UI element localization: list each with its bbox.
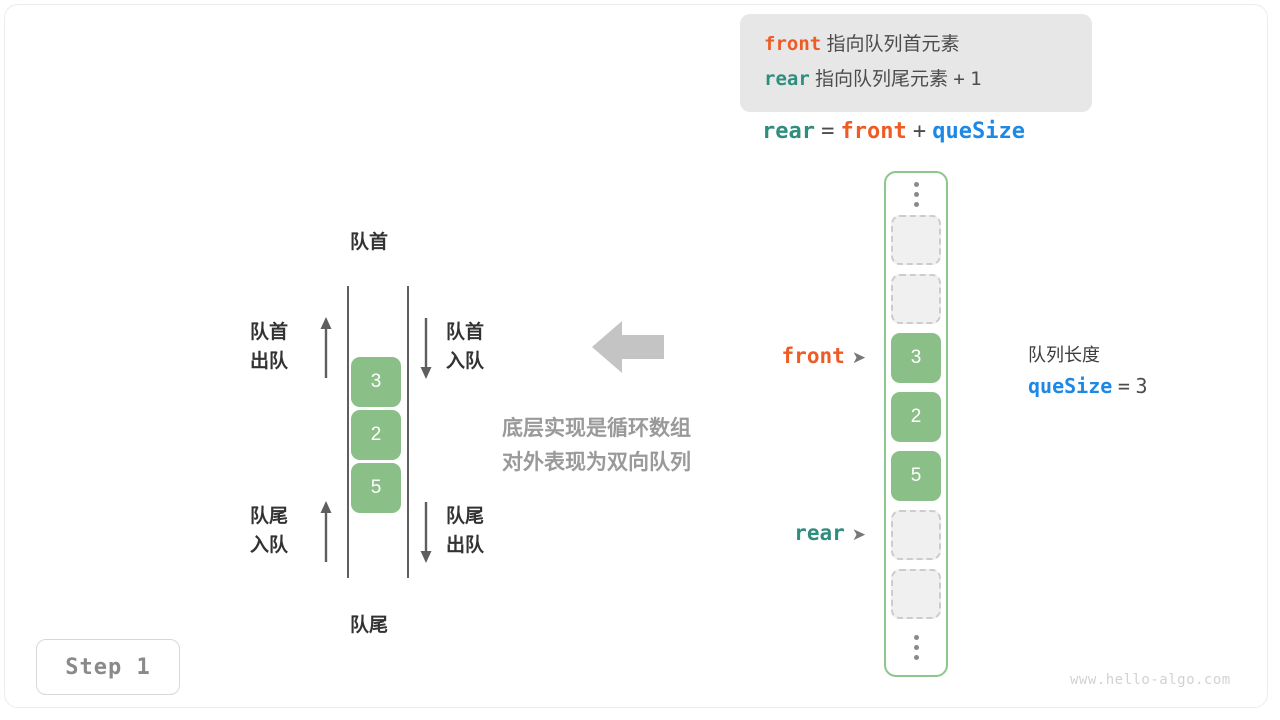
queue-size-variable: queSize: [1028, 374, 1112, 398]
mapping-left-arrow-icon: [592, 318, 664, 376]
ellipsis-dot: [914, 202, 919, 207]
legend-term-front: front: [764, 33, 821, 55]
legend-rear-op: +: [953, 68, 964, 90]
array-cell-6[interactable]: [891, 569, 941, 619]
queue-size-expression: queSize = 3: [1028, 371, 1148, 403]
ellipsis-dot: [914, 635, 919, 640]
queue-size-title: 队列长度: [1028, 340, 1148, 371]
array-cell-value: 5: [911, 465, 922, 487]
array-cell-value: 3: [911, 347, 922, 369]
formula-plus: +: [913, 119, 926, 144]
op-head-push-line2: 入队: [446, 347, 484, 376]
step-badge: Step 1: [36, 639, 180, 695]
pointer-front: front➤: [736, 344, 866, 369]
formula-rear-equals-front-plus-quesize: rear = front + queSize: [762, 118, 1025, 144]
deque-cell-value: 5: [371, 477, 382, 499]
queue-size-equals: =: [1118, 374, 1130, 398]
deque-cell-value: 3: [371, 371, 382, 393]
legend-text-rear: 指向队列尾元素: [815, 69, 948, 90]
op-tail-pop-down-arrow-icon: [418, 500, 434, 564]
pointer-rear-arrow-icon: ➤: [852, 525, 866, 545]
implementation-note: 底层实现是循环数组 对外表现为双向队列: [502, 412, 691, 480]
array-cell-1[interactable]: [891, 274, 941, 324]
op-tail-pop-line1: 队尾: [446, 502, 484, 531]
op-head-push-down-arrow-icon: [418, 316, 434, 380]
diagram-canvas: front 指向队列首元素 rear 指向队列尾元素 + 1 rear = fr…: [0, 0, 1280, 720]
op-tail-push-up-arrow-icon: [318, 500, 334, 564]
array-cell-0[interactable]: [891, 215, 941, 265]
deque-cell-0[interactable]: 3: [351, 357, 401, 407]
pointer-front-label: front: [782, 344, 845, 368]
array-cell-4[interactable]: 5: [891, 451, 941, 501]
op-tail-pop-label: 队尾 出队: [446, 502, 484, 560]
array-bottom-ellipsis: [891, 624, 941, 670]
legend-line-rear: rear 指向队列尾元素 + 1: [764, 62, 1092, 97]
deque-rail-left: [347, 286, 349, 578]
deque-cell-value: 2: [371, 424, 382, 446]
op-tail-push-line1: 队尾: [250, 502, 288, 531]
array-cell-3[interactable]: 2: [891, 392, 941, 442]
implementation-note-line2: 对外表现为双向队列: [502, 446, 691, 480]
ellipsis-dot: [914, 192, 919, 197]
deque-head-label: 队首: [350, 229, 388, 256]
queue-size-value: 3: [1135, 374, 1147, 398]
ellipsis-dot: [914, 645, 919, 650]
pointer-rear-label: rear: [794, 521, 845, 545]
op-head-push-line1: 队首: [446, 318, 484, 347]
legend-line-front: front 指向队列首元素: [764, 27, 1092, 62]
implementation-note-line1: 底层实现是循环数组: [502, 412, 691, 446]
array-cell-5[interactable]: [891, 510, 941, 560]
op-head-pop-up-arrow-icon: [318, 316, 334, 380]
op-tail-pop-line2: 出队: [446, 531, 484, 560]
site-watermark: www.hello-algo.com: [1070, 672, 1231, 688]
formula-rhs-quesize: queSize: [932, 119, 1025, 144]
deque-cell-2[interactable]: 5: [351, 463, 401, 513]
formula-equals: =: [821, 119, 834, 144]
op-head-pop-line2: 出队: [250, 347, 288, 376]
deque-cell-1[interactable]: 2: [351, 410, 401, 460]
pointer-rear: rear➤: [736, 521, 866, 546]
formula-lhs-rear: rear: [762, 119, 815, 144]
op-head-push-label: 队首 入队: [446, 318, 484, 376]
pointer-front-arrow-icon: ➤: [852, 348, 866, 368]
deque-tail-label: 队尾: [350, 612, 388, 639]
legend-term-rear: rear: [764, 68, 810, 90]
formula-rhs-front: front: [840, 119, 906, 144]
op-head-pop-label: 队首 出队: [250, 318, 288, 376]
legend-rear-value: 1: [970, 68, 981, 90]
array-top-ellipsis: [891, 171, 941, 217]
op-tail-push-label: 队尾 入队: [250, 502, 288, 560]
ellipsis-dot: [914, 655, 919, 660]
deque-rail-right: [407, 286, 409, 578]
pointer-legend-box: front 指向队列首元素 rear 指向队列尾元素 + 1: [740, 14, 1092, 112]
legend-text-front: 指向队列首元素: [826, 34, 959, 55]
array-cell-2[interactable]: 3: [891, 333, 941, 383]
op-tail-push-line2: 入队: [250, 531, 288, 560]
queue-size-note: 队列长度 queSize = 3: [1028, 340, 1148, 403]
ellipsis-dot: [914, 182, 919, 187]
op-head-pop-line1: 队首: [250, 318, 288, 347]
array-cell-value: 2: [911, 406, 922, 428]
